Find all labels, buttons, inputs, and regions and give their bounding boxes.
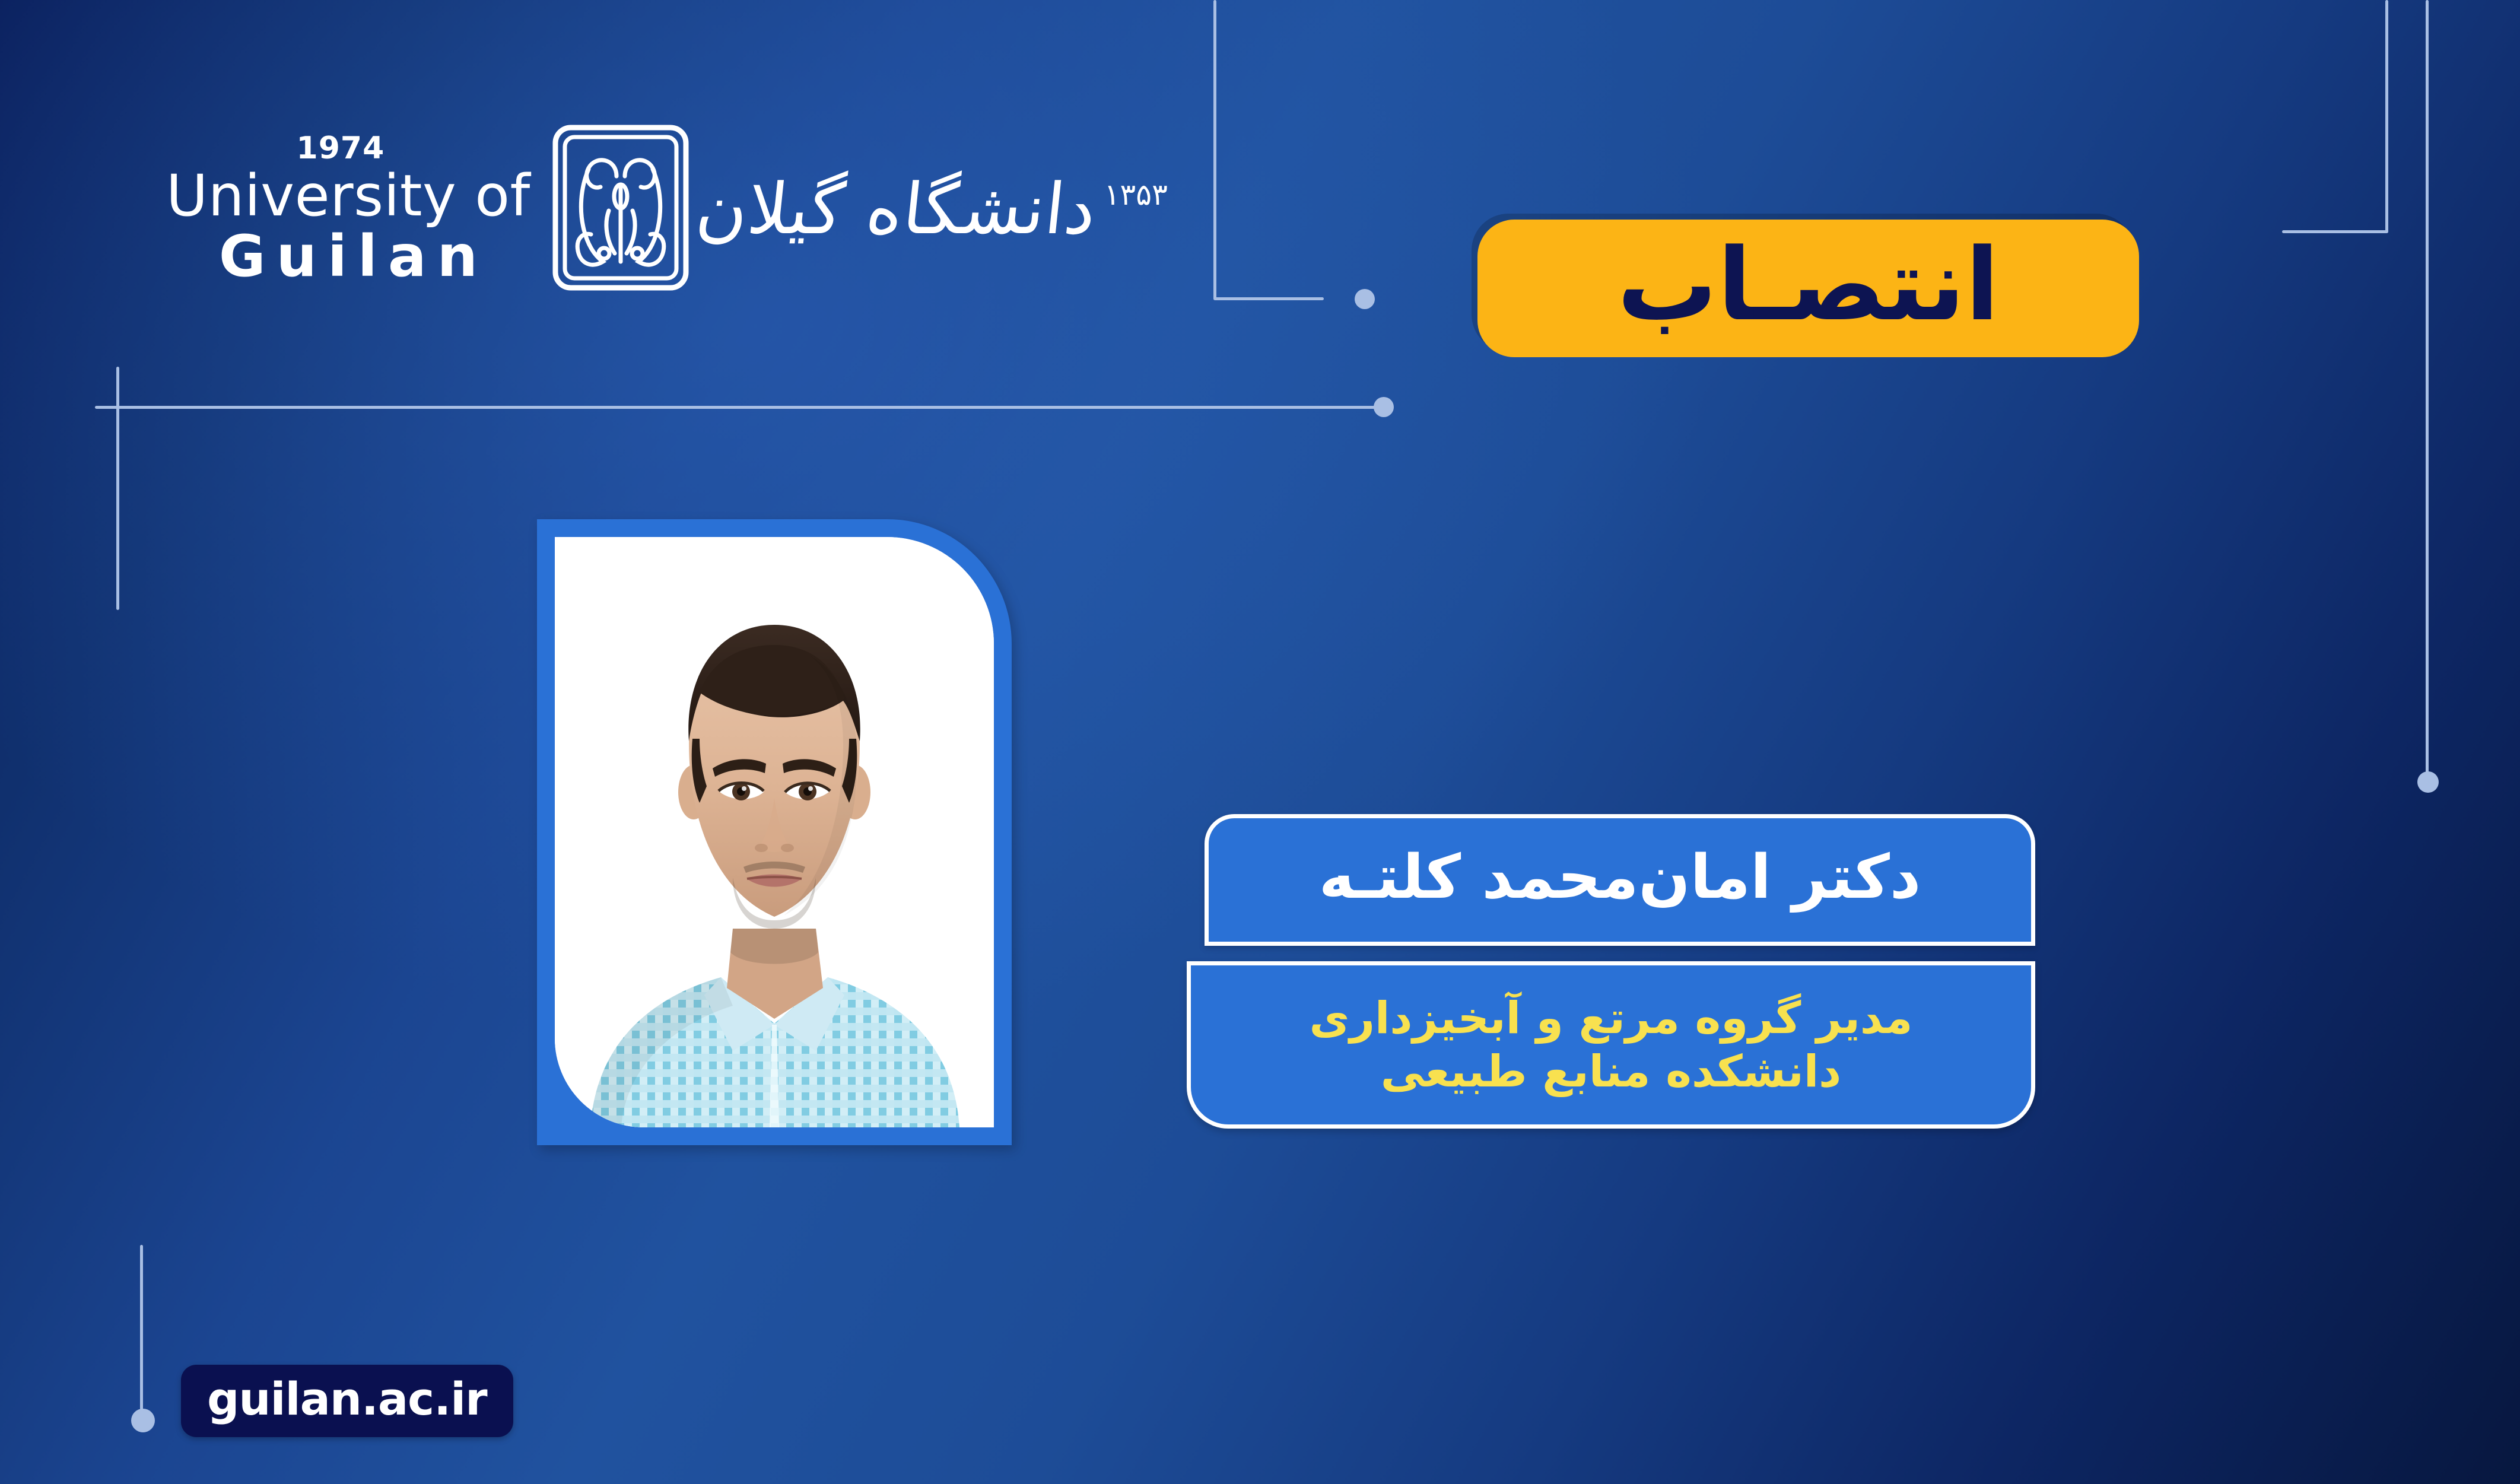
logo-name-fa: دانشگاه گیلان [693, 174, 1099, 244]
person-role-line1: مدیر گروه مرتع و آبخیزداری [1310, 992, 1913, 1045]
guide-left-lower-vertical [140, 1245, 143, 1418]
dot-right-mid [2417, 771, 2439, 793]
person-name: دکتر امان‌محمد کلتـه [1319, 847, 1921, 908]
portrait-frame [537, 519, 1012, 1145]
announcement-poster: 1974 University of Guilan [0, 0, 2520, 1484]
portrait-photo-container [555, 537, 994, 1127]
person-role-line2: دانشکده منابع طبیعی [1381, 1045, 1841, 1098]
dot-top-center [1355, 289, 1375, 309]
dot-upper-right [1374, 397, 1394, 417]
guilan-butterfly-emblem-icon [549, 122, 692, 296]
guide-right-inner-vertical [2385, 0, 2388, 233]
guide-upper-horizontal [95, 406, 1384, 409]
guide-top-center-vertical [1213, 0, 1216, 300]
portrait-photo [555, 537, 994, 1127]
guide-left-upper-vertical [116, 367, 119, 610]
logo-founded-year-en: 1974 [166, 133, 515, 164]
person-name-banner: دکتر امان‌محمد کلتـه [1205, 814, 2035, 946]
logo-name-en-line2: Guilan [166, 228, 530, 285]
logo-persian-text: ۱۳۵۳ دانشگاه گیلان [697, 174, 1168, 244]
dot-bottom-left [131, 1409, 155, 1432]
logo-founded-year-fa: ۱۳۵۳ [1104, 180, 1168, 209]
headline-label: انتصـاب [1617, 235, 1999, 335]
university-logo: 1974 University of Guilan [166, 122, 1168, 296]
guide-right-horizontal [2282, 230, 2388, 233]
headline-badge: انتصـاب [1477, 220, 2139, 357]
guide-top-center-horizontal [1213, 297, 1324, 300]
guide-right-outer-vertical [2426, 0, 2429, 782]
person-role-banner: مدیر گروه مرتع و آبخیزداری دانشکده منابع… [1187, 961, 2035, 1129]
logo-name-en-line1: University of [166, 167, 530, 224]
website-badge[interactable]: guilan.ac.ir [181, 1365, 513, 1437]
website-url: guilan.ac.ir [207, 1372, 487, 1425]
logo-english-text: 1974 University of Guilan [166, 133, 545, 285]
